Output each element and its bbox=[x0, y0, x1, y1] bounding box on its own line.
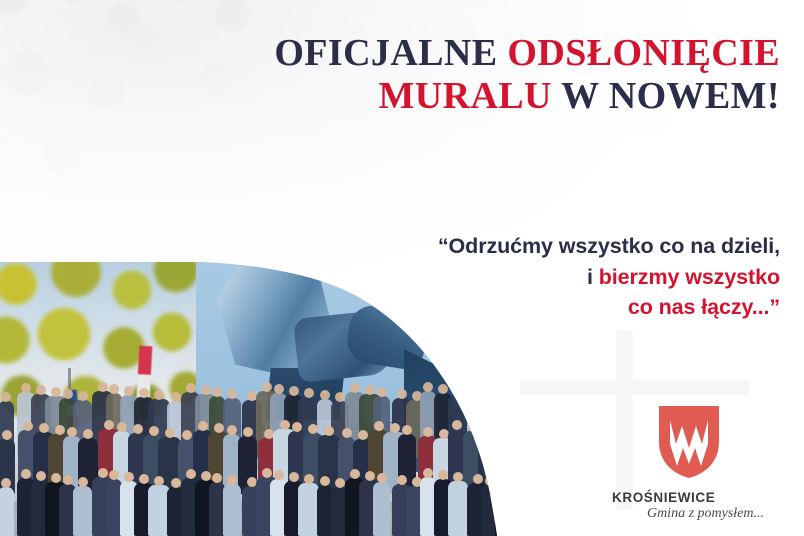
quote-line-3: co nas łączy...” bbox=[628, 295, 780, 319]
headline-word-oficjalne: OFICJALNE bbox=[274, 32, 507, 74]
photo-person bbox=[73, 486, 92, 536]
headline-word-odsloniecie: ODSŁONIĘCIE bbox=[507, 32, 780, 74]
poster-root: OFICJALNE ODSŁONIĘCIE MURALU W NOWEM! “O… bbox=[0, 0, 804, 536]
quote-line-1: “Odrzućmy wszystko co na dzieli, bbox=[438, 234, 780, 258]
photo-person bbox=[223, 484, 241, 536]
headline-line-2: MURALU W NOWEM! bbox=[379, 75, 781, 117]
logo-tagline: Gmina z pomysłem... bbox=[604, 506, 774, 522]
quote-block: “Odrzućmy wszystko co na dzieli, i bierz… bbox=[320, 231, 780, 323]
quote-line-2-highlight: bierzmy wszystko bbox=[599, 265, 780, 289]
quote-line-2-prefix: i bbox=[587, 265, 599, 289]
photo-crowd-row-front bbox=[0, 482, 560, 536]
photo-person bbox=[298, 483, 319, 536]
shield-icon bbox=[657, 404, 721, 480]
photo-person bbox=[373, 482, 390, 536]
photo-person bbox=[448, 481, 468, 536]
municipality-logo: KROŚNIEWICE Gmina z pomysłem... bbox=[604, 404, 774, 522]
headline-word-muralu: MURALU bbox=[379, 75, 562, 117]
page-title: OFICJALNE ODSŁONIĘCIE MURALU W NOWEM! bbox=[220, 32, 780, 117]
logo-name: KROŚNIEWICE bbox=[604, 490, 774, 505]
headline-line-1: OFICJALNE ODSŁONIĘCIE bbox=[274, 32, 780, 74]
photo-person bbox=[0, 487, 14, 536]
headline-word-w-nowem: W NOWEM! bbox=[561, 75, 780, 117]
